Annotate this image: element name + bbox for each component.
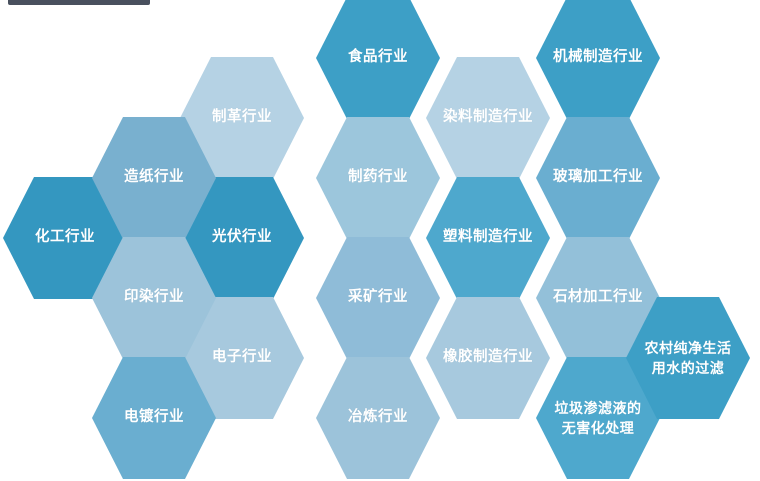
hexagon-machinery-manufacturing[interactable]: 机械制造行业 bbox=[536, 0, 660, 119]
top-slate-bar bbox=[8, 0, 150, 5]
hexagon-label-smelting: 冶炼行业 bbox=[342, 408, 414, 428]
hexagon-mining[interactable]: 采矿行业 bbox=[316, 237, 440, 359]
hexagon-label-leather: 制革行业 bbox=[206, 108, 278, 128]
hexagon-label-papermaking: 造纸行业 bbox=[118, 168, 190, 188]
hexagon-label-pharmaceutical: 制药行业 bbox=[342, 168, 414, 188]
hexagon-label-plastic-manufacturing: 塑料制造行业 bbox=[437, 228, 539, 248]
hexagon-label-rural-water-filtration: 农村纯净生活 用水的过滤 bbox=[639, 338, 738, 379]
hexagon-glass-processing[interactable]: 玻璃加工行业 bbox=[536, 117, 660, 239]
hexagon-label-machinery-manufacturing: 机械制造行业 bbox=[547, 48, 649, 68]
hexagon-label-chemical: 化工行业 bbox=[29, 228, 101, 248]
hexagon-smelting[interactable]: 冶炼行业 bbox=[316, 357, 440, 479]
hexagon-label-electronics: 电子行业 bbox=[206, 348, 278, 368]
hexagon-label-rubber-manufacturing: 橡胶制造行业 bbox=[437, 348, 539, 368]
hexagon-label-photovoltaic: 光伏行业 bbox=[206, 228, 278, 248]
hexagon-label-stone-processing: 石材加工行业 bbox=[547, 288, 649, 308]
hexagon-infographic-canvas: 化工行业制革行业光伏行业电子行业造纸行业印染行业电镀行业食品行业制药行业采矿行业… bbox=[0, 0, 760, 481]
hexagon-label-glass-processing: 玻璃加工行业 bbox=[547, 168, 649, 188]
hexagon-label-landfill-leachate: 垃圾渗滤液的 无害化处理 bbox=[549, 398, 648, 439]
hexagon-food[interactable]: 食品行业 bbox=[316, 0, 440, 119]
hexagon-plastic-manufacturing[interactable]: 塑料制造行业 bbox=[426, 177, 550, 299]
hexagon-label-dye-manufacturing: 染料制造行业 bbox=[437, 108, 539, 128]
hexagon-label-electroplating: 电镀行业 bbox=[118, 408, 190, 428]
hexagon-pharmaceutical[interactable]: 制药行业 bbox=[316, 117, 440, 239]
hexagon-dye-manufacturing[interactable]: 染料制造行业 bbox=[426, 57, 550, 179]
hexagon-label-food: 食品行业 bbox=[342, 48, 414, 68]
hexagon-rubber-manufacturing[interactable]: 橡胶制造行业 bbox=[426, 297, 550, 419]
hexagon-label-printing-dyeing: 印染行业 bbox=[118, 288, 190, 308]
hexagon-label-mining: 采矿行业 bbox=[342, 288, 414, 308]
